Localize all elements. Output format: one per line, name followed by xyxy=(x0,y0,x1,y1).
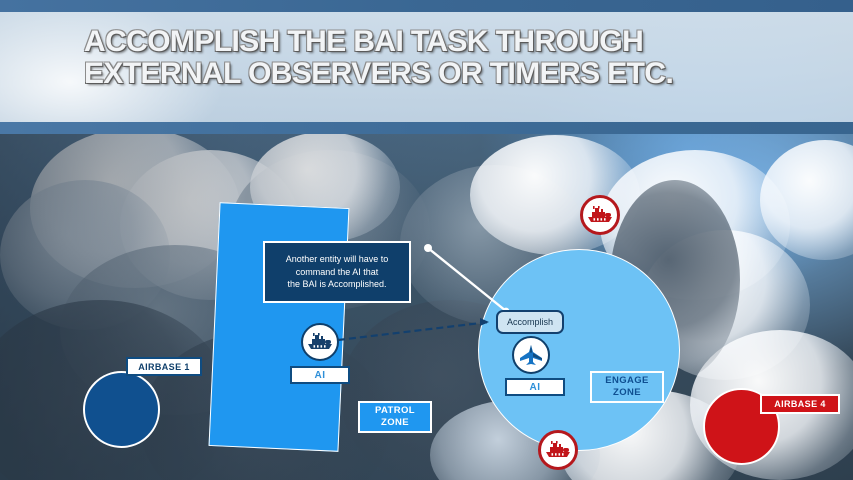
patrol-ship-badge[interactable] xyxy=(301,323,339,361)
ship-icon xyxy=(307,333,333,351)
patrol-zone-label-line-2: ZONE xyxy=(381,417,409,429)
fighter-jet-icon xyxy=(518,344,544,366)
hostile-ship-icon xyxy=(545,441,571,459)
hostile-ship-bottom-badge[interactable] xyxy=(538,430,578,470)
callout-line-3: the BAI is Accomplished. xyxy=(286,278,389,291)
command-link-dashed xyxy=(338,322,489,340)
airbase1-label[interactable]: AIRBASE 1 xyxy=(126,357,202,376)
engage-zone-label-line-1: ENGAGE xyxy=(605,375,649,387)
engage-zone-label[interactable]: ENGAGE ZONE xyxy=(590,371,664,403)
airbase1-marker[interactable] xyxy=(83,371,160,448)
hostile-ship-top-badge[interactable] xyxy=(580,195,620,235)
patrol-zone-label[interactable]: PATROL ZONE xyxy=(358,401,432,433)
leader-line-start-dot xyxy=(424,244,432,252)
airbase4-label[interactable]: AIRBASE 4 xyxy=(760,394,840,414)
patrol-ship-label[interactable]: AI xyxy=(290,366,350,384)
patrol-zone-label-line-1: PATROL xyxy=(375,405,415,417)
slide-canvas: ACCOMPLISH THE BAI TASK THROUGH EXTERNAL… xyxy=(0,0,853,480)
callout-line-2: command the AI that xyxy=(286,266,389,279)
hostile-ship-icon xyxy=(587,206,613,224)
callout-line-1: Another entity will have to xyxy=(286,253,389,266)
engage-aircraft-badge[interactable] xyxy=(512,336,550,374)
accomplish-command-pill[interactable]: Accomplish xyxy=(496,310,564,334)
command-link-arrowhead xyxy=(480,318,489,326)
engage-zone-label-line-2: ZONE xyxy=(613,387,641,399)
engage-aircraft-label[interactable]: AI xyxy=(505,378,565,396)
callout-leader-line xyxy=(428,248,506,311)
callout-box: Another entity will have to command the … xyxy=(263,241,411,303)
